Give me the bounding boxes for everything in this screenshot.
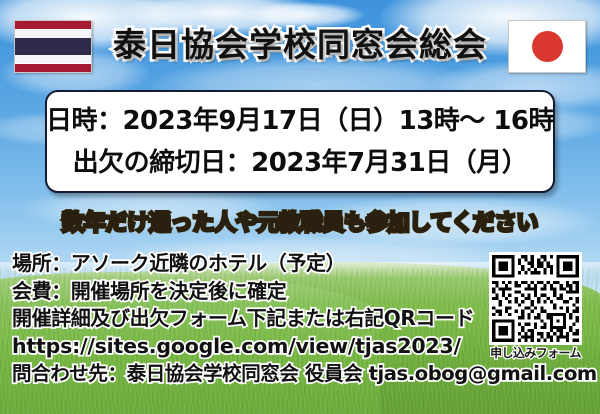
invitation-highlight-text: 数年だけ通った人や元教職員も参加してください <box>0 207 600 241</box>
event-datetime-line: 日時：2023年9月17日（日）13時〜 16時 <box>46 100 554 142</box>
rsvp-deadline-line: 出欠の締切日：2023年7月31日（月） <box>73 142 528 184</box>
registration-qr-block[interactable]: 申し込みフォーム <box>489 252 582 361</box>
poster-header: 泰日協会学校同窓会総会 <box>0 0 600 90</box>
event-poster: 泰日協会学校同窓会総会 日時：2023年9月17日（日）13時〜 16時 出欠の… <box>0 0 600 414</box>
event-datetime-box: 日時：2023年9月17日（日）13時〜 16時 出欠の締切日：2023年7月3… <box>45 90 555 193</box>
qr-caption: 申し込みフォーム <box>489 346 582 361</box>
contact-line[interactable]: 問合わせ先：泰日協会学校同窓会 役員会 tjas.obog@gmail.com <box>12 360 588 388</box>
qr-code-icon[interactable] <box>489 252 582 345</box>
japan-flag-icon <box>508 20 586 73</box>
